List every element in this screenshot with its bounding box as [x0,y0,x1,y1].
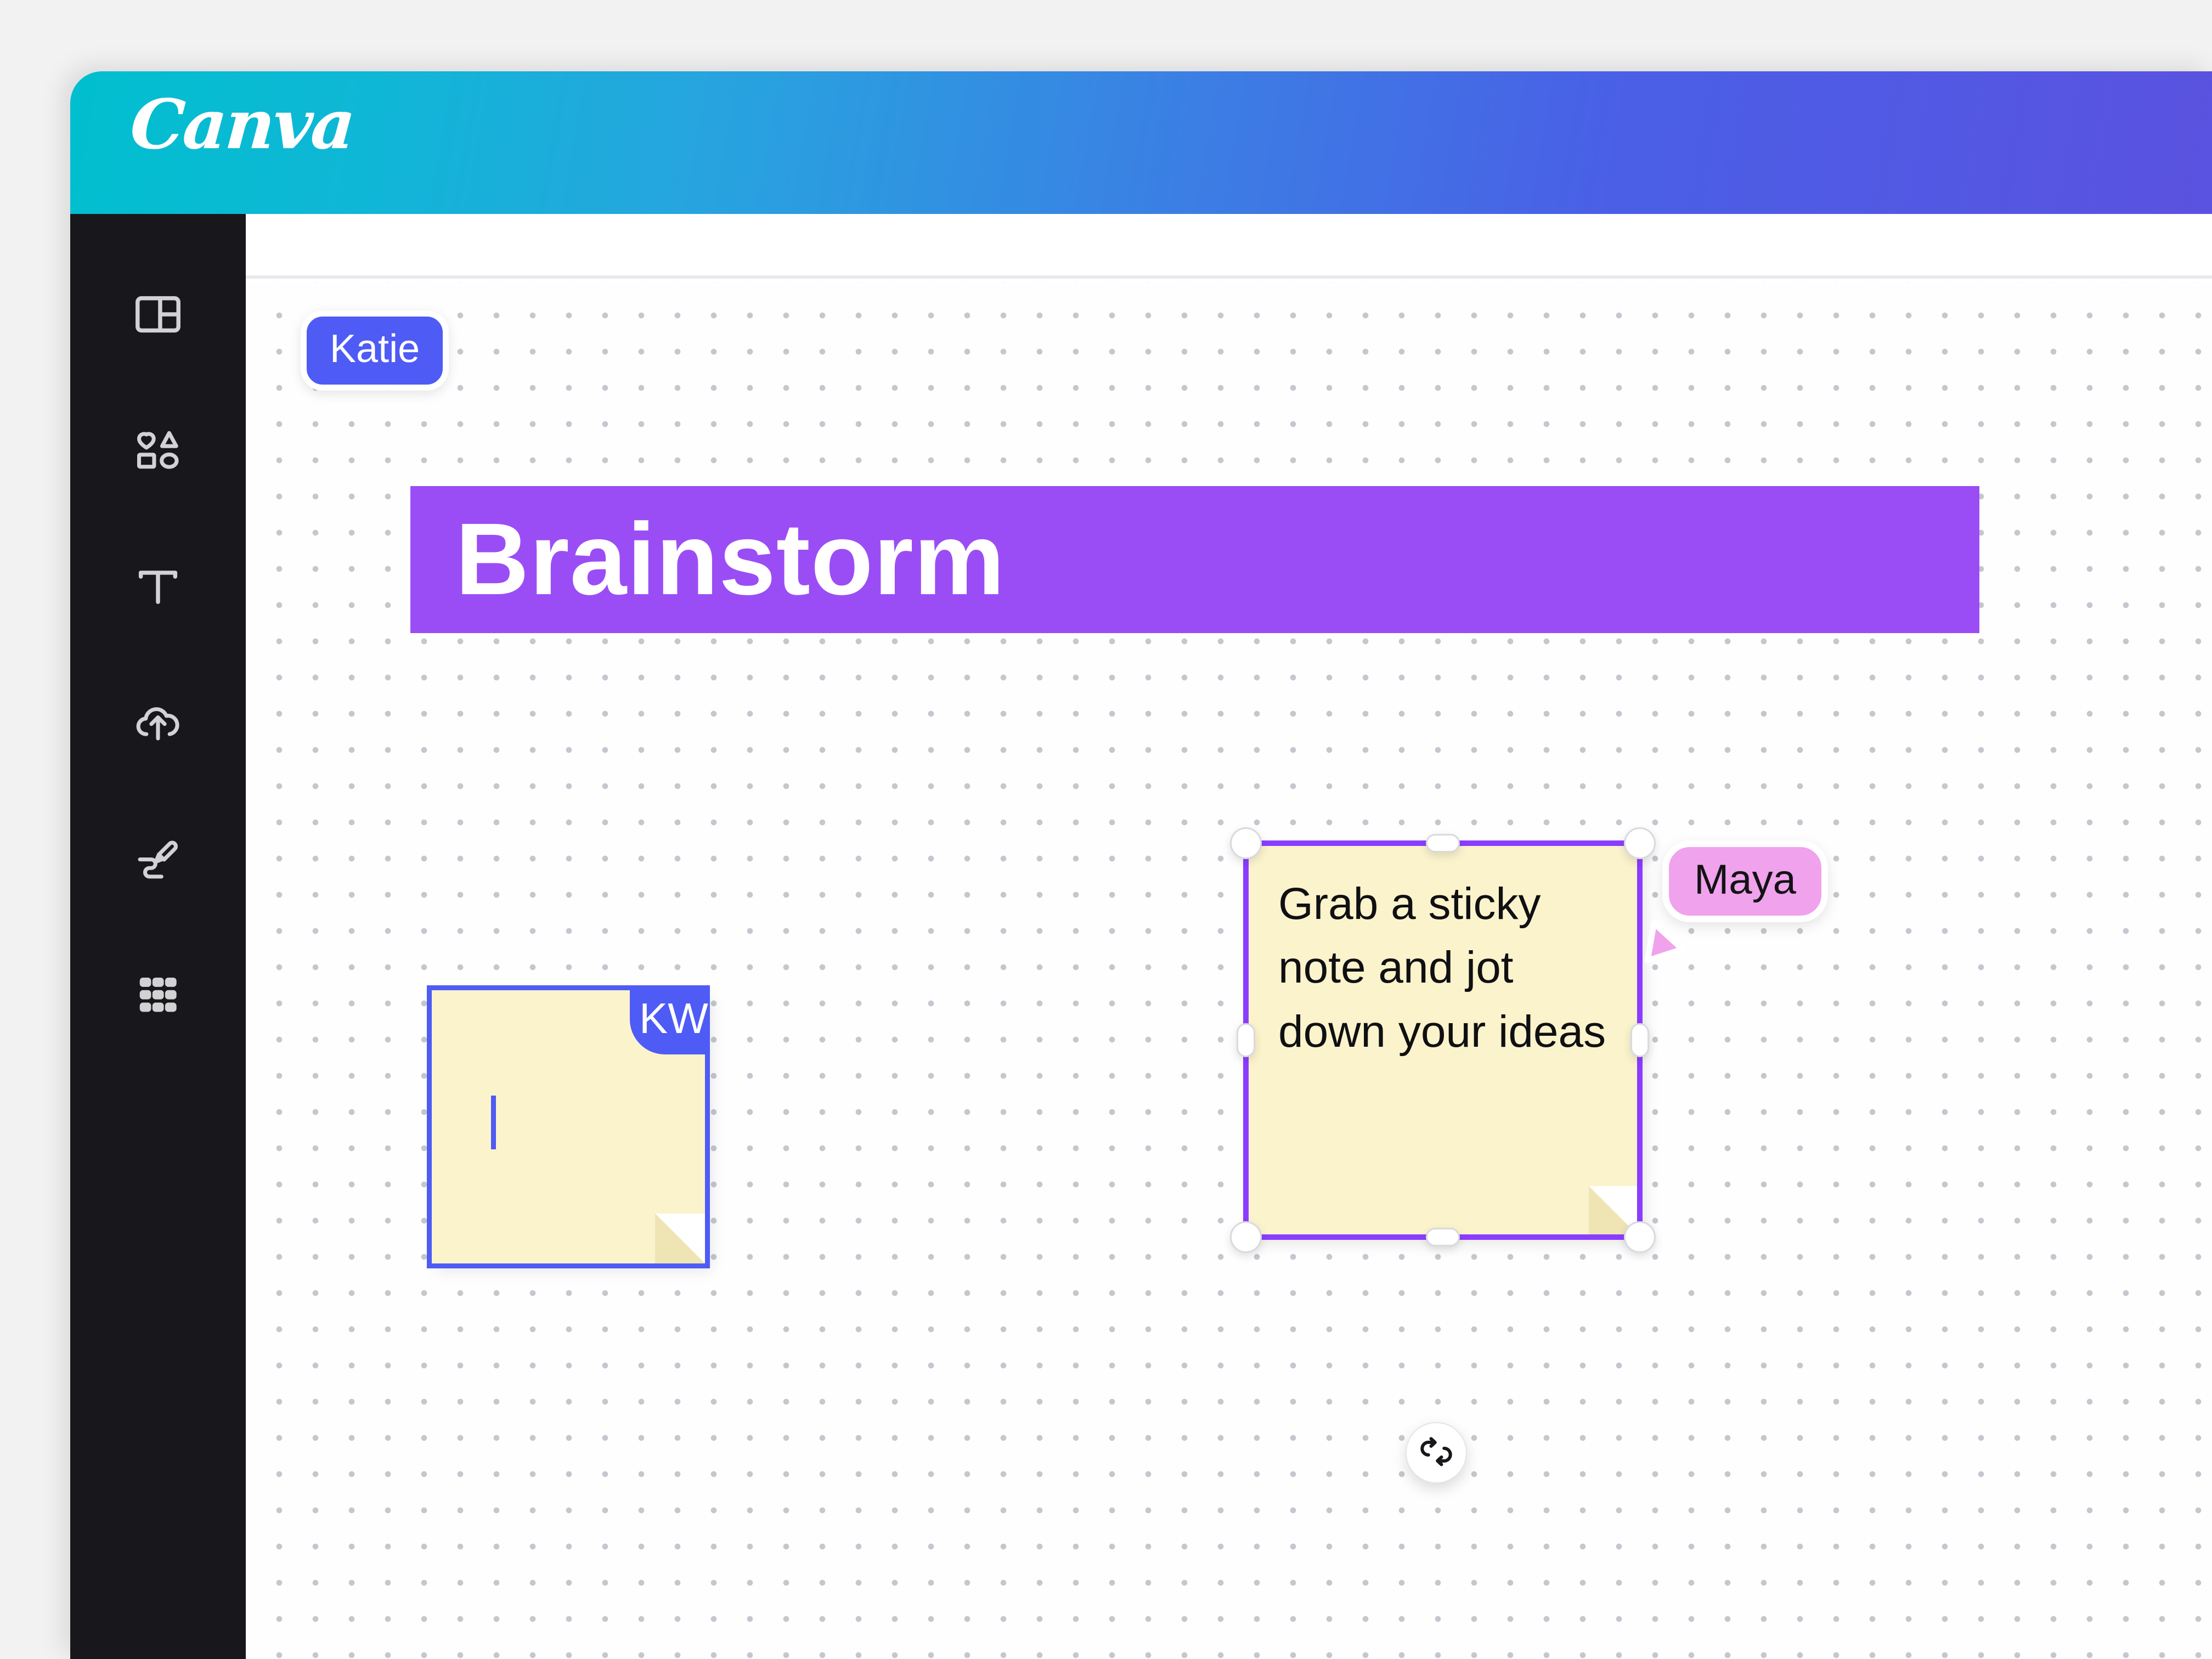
sticky-note-maya[interactable]: Grab a sticky note and jot down your ide… [1246,844,1639,1237]
layout-panel-icon [132,289,184,340]
canva-editor-window: Canva [70,71,2212,1659]
whiteboard-canvas[interactable]: Brainstorm KW Katie Grab a sticky note a… [246,282,2212,1659]
rotate-icon [1420,1435,1453,1471]
author-avatar-kw[interactable]: KW [630,985,710,1054]
cloud-upload-icon [132,697,184,748]
page-title: Brainstorm [410,509,1005,611]
shapes-icon [132,425,184,476]
editor-toolbar [246,214,2212,279]
canva-logo[interactable]: Canva [128,91,356,159]
collaborator-label-maya: Maya [1662,840,1828,922]
sidebar-item-uploads[interactable] [106,670,210,775]
left-tool-rail [70,214,246,1659]
title-banner[interactable]: Brainstorm [410,486,1979,633]
rotate-handle-button[interactable] [1406,1422,1467,1483]
sidebar-item-design[interactable] [106,262,210,366]
text-caret [491,1096,496,1149]
sticky-fold-corner [1589,1186,1639,1237]
grid-apps-icon [132,969,184,1020]
sidebar-item-draw[interactable] [106,806,210,911]
sidebar-item-text[interactable] [106,534,210,639]
pen-draw-icon [132,833,184,884]
sidebar-item-elements[interactable] [106,398,210,503]
brand-header: Canva [70,71,2212,214]
sticky-note-katie-edit-frame: KW [427,985,710,1268]
sidebar-item-apps[interactable] [106,943,210,1047]
sticky-note-text[interactable]: Grab a sticky note and jot down your ide… [1278,872,1613,1064]
text-t-icon [132,561,184,612]
collaborator-label-katie: Katie [301,311,449,391]
